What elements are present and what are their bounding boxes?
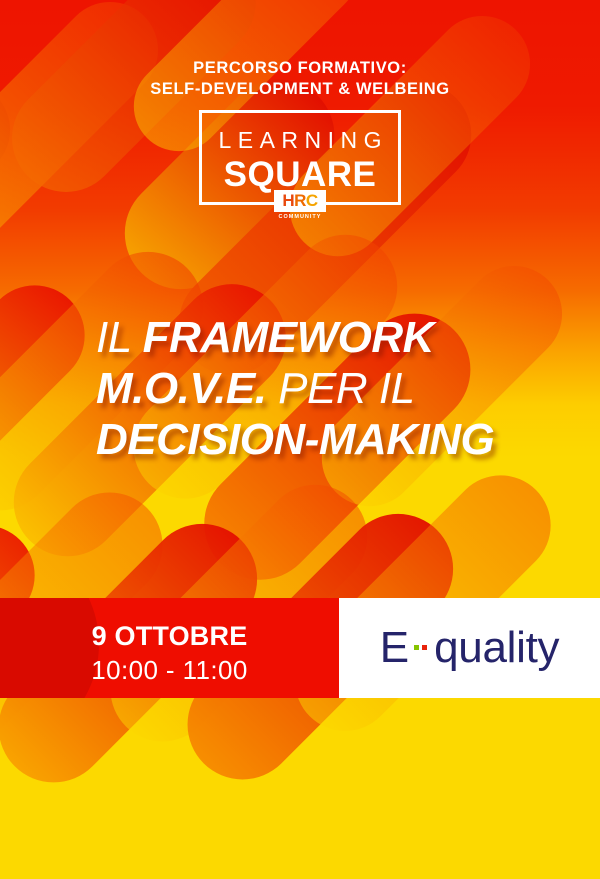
title-word-per-il: PER IL [278,364,414,413]
page-title: IL FRAMEWORK M.O.V.E. PER IL DECISION-MA… [96,312,566,465]
equality-dot-green [414,645,419,650]
date-band: 9 OTTOBRE 10:00 - 11:00 [0,598,339,698]
kicker-line-1: PERCORSO FORMATIVO: [193,59,407,77]
logo-line-square: SQUARE [202,155,398,195]
title-word-move: M.O.V.E. [96,364,266,413]
event-time: 10:00 - 11:00 [0,655,339,686]
title-word-framework: FRAMEWORK [143,313,434,362]
hrc-community-badge: HRC COMMUNITY [274,190,326,220]
hrc-letter-c: C [306,191,318,210]
title-line-3: DECISION-MAKING [96,414,566,465]
hrc-tagline: COMMUNITY [274,214,326,220]
title-word-decision-making: DECISION-MAKING [96,415,494,464]
logo-line-learning: LEARNING [202,127,398,154]
hrc-letter-r: R [294,191,306,210]
title-line-2: M.O.V.E. PER IL [96,363,566,414]
date-text-group: 9 OTTOBRE 10:00 - 11:00 [0,598,339,698]
hrc-letter-h: H [282,191,294,210]
equality-dots [414,645,427,650]
equality-word-quality: quality [434,626,559,670]
equality-dot-red [422,645,427,650]
hrc-wordmark: HRC [274,190,326,212]
kicker-line-2: SELF-DEVELOPMENT & WELBEING [0,79,600,100]
title-word-il: IL [96,313,131,362]
event-date: 9 OTTOBRE [0,621,339,652]
kicker-text: PERCORSO FORMATIVO: SELF-DEVELOPMENT & W… [0,58,600,99]
equality-logo: E quality [339,598,600,698]
equality-letter-e: E [380,626,409,670]
title-line-1: IL FRAMEWORK [96,312,566,363]
poster-canvas: PERCORSO FORMATIVO: SELF-DEVELOPMENT & W… [0,0,600,879]
sponsor-band: E quality [339,598,600,698]
